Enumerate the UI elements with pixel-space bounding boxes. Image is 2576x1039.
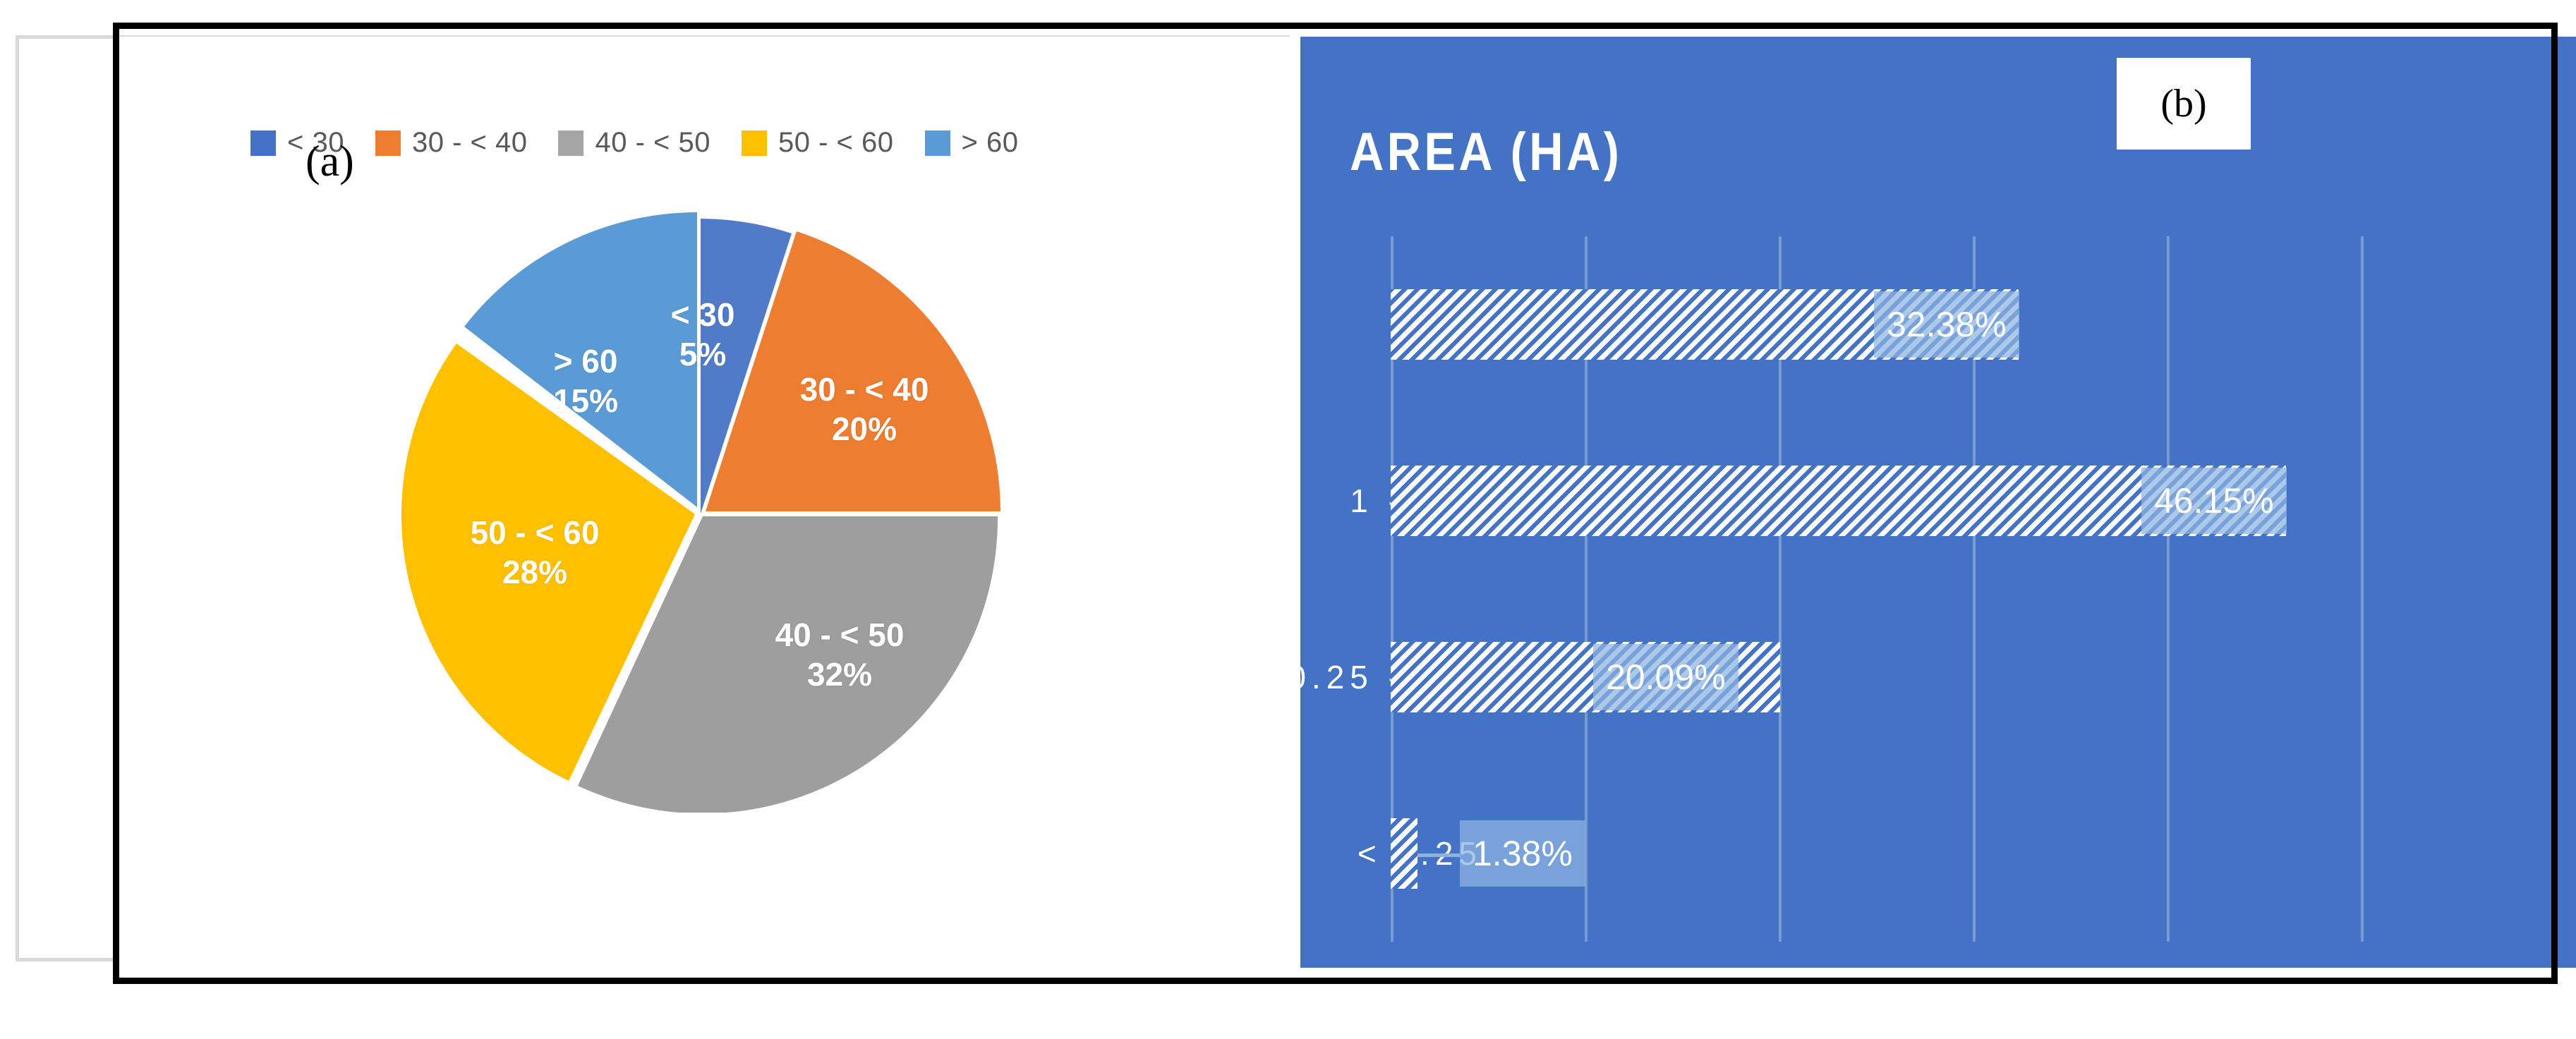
outer-black-frame (113, 23, 2558, 984)
panel-a-label: (a) (306, 137, 354, 187)
